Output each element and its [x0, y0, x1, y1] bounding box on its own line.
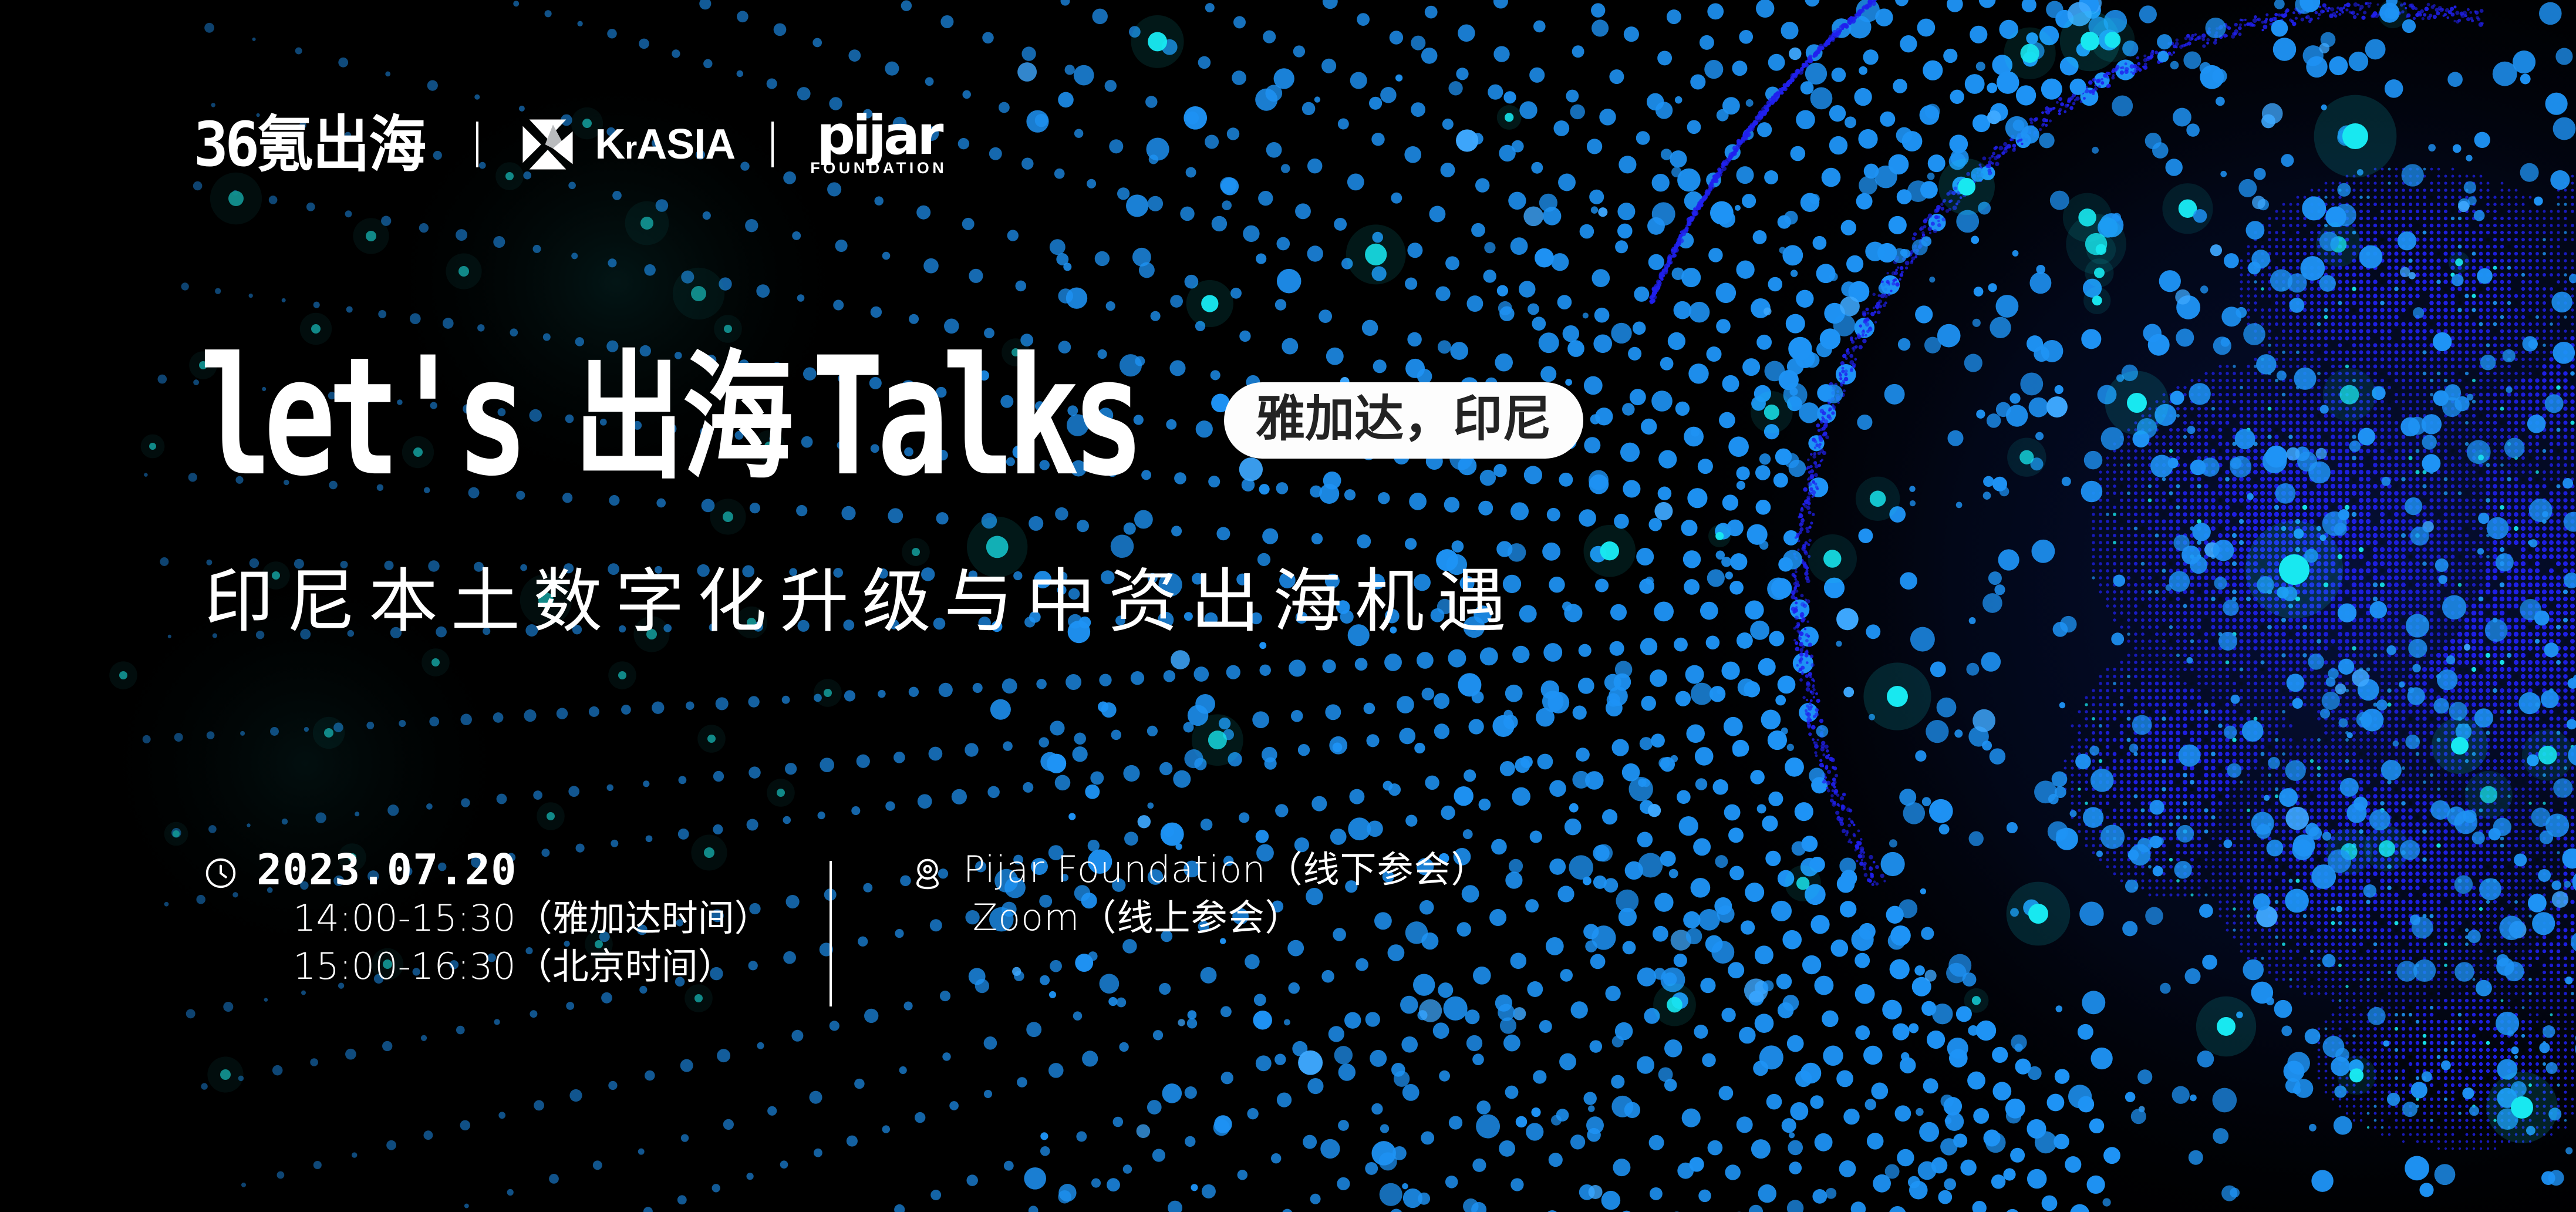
headline: let's 出海 Talks 雅加达，印尼: [200, 352, 1583, 483]
subtitle: 印尼本土数字化升级与中资出海机遇: [204, 564, 1519, 640]
info-divider: [830, 861, 832, 1006]
venue-offline: Pijar Foundation（线下参会）: [963, 846, 1488, 894]
headline-lets: let's: [200, 345, 521, 491]
location-badge: 雅加达，印尼: [1224, 382, 1583, 459]
clock-icon: [203, 855, 239, 891]
logo-separator-2: [771, 122, 774, 167]
logo-pijar-foundation[interactable]: pijar FOUNDATION: [810, 113, 947, 176]
venue-online: Zoom（线上参会）: [973, 894, 1488, 942]
headline-talks: Talks: [812, 345, 1138, 491]
headline-chuhai: 出海: [574, 356, 791, 480]
pijar-wordmark: pijar: [817, 113, 940, 158]
pijar-foundation-label: FOUNDATION: [810, 160, 947, 176]
logo-36kr-cn: 氪出海: [256, 111, 425, 179]
location-pin-icon: [909, 855, 946, 891]
event-time-beijing: 15:00-16:30（北京时间）: [293, 942, 771, 991]
krasia-wordmark: KrASIA: [595, 123, 735, 166]
krasia-k-diamond-icon: [515, 112, 581, 177]
logo-36kr-chuhai[interactable]: 36氪出海: [194, 114, 425, 176]
event-info-row: 2023.07.20 14:00-15:30（雅加达时间） 15:00-16:3…: [203, 846, 1488, 1006]
logo-bar: 36氪出海 KrASIA pijar FOUNDATION: [194, 112, 947, 177]
logo-separator-1: [476, 122, 478, 167]
logo-36kr-latin: 36: [194, 109, 256, 180]
event-banner: 36氪出海 KrASIA pijar FOUNDATION let's 出海: [0, 0, 2576, 1212]
event-date: 2023.07.20: [257, 846, 771, 894]
event-datetime-block: 2023.07.20 14:00-15:30（雅加达时间） 15:00-16:3…: [203, 846, 771, 990]
event-time-jakarta: 14:00-15:30（雅加达时间）: [293, 894, 771, 942]
event-venue-block: Pijar Foundation（线下参会） Zoom（线上参会）: [909, 846, 1488, 942]
logo-krasia[interactable]: KrASIA: [515, 112, 735, 177]
